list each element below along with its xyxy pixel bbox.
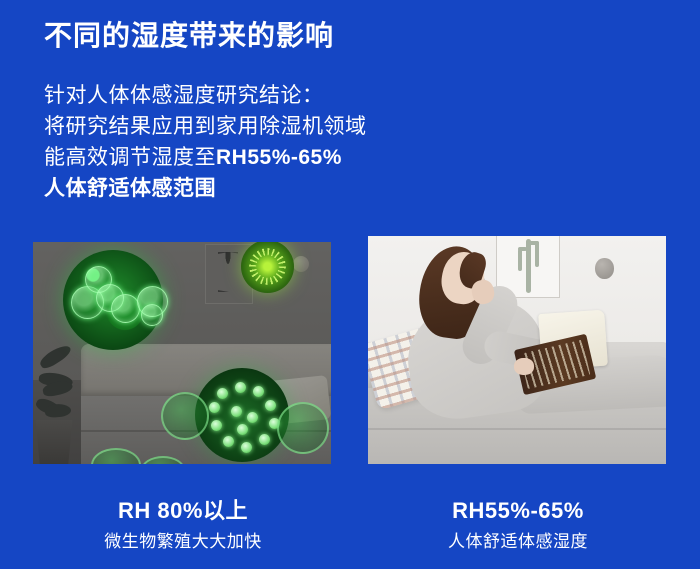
microbe-sphere-large xyxy=(63,250,163,350)
virus-spike xyxy=(209,402,220,413)
caption-subtitle: 微生物繁殖大大加快 xyxy=(33,529,333,555)
body-line-3-prefix: 能高效调节湿度至 xyxy=(44,146,216,169)
body-line-2: 将研究结果应用到家用除湿机领域 xyxy=(44,111,367,142)
plant-pot xyxy=(33,420,75,464)
photo-high-humidity xyxy=(33,242,331,464)
cactus-icon xyxy=(515,239,541,293)
microbe-sphere-partial xyxy=(277,402,329,454)
plant-leaf xyxy=(38,342,74,371)
body-copy: 针对人体体感湿度研究结论： 将研究结果应用到家用除湿机领域 能高效调节湿度至RH… xyxy=(44,80,367,204)
microbe-cell xyxy=(141,304,163,326)
caption-title: RH55%-65% xyxy=(368,497,668,525)
caption-subtitle: 人体舒适体感湿度 xyxy=(368,529,668,555)
caption-high-humidity: RH 80%以上 微生物繁殖大大加快 xyxy=(33,497,333,555)
humidity-range-highlight: RH55%-65% xyxy=(216,146,342,169)
virus-spike xyxy=(237,424,248,435)
dim-room-scene xyxy=(33,242,331,464)
virus-spike xyxy=(223,436,234,447)
body-line-3: 能高效调节湿度至RH55%-65% xyxy=(44,142,367,173)
plant-leaf xyxy=(45,403,72,418)
virus-spike xyxy=(211,420,222,431)
microbe-sphere-partial xyxy=(161,392,209,440)
caption-title: RH 80%以上 xyxy=(33,497,333,525)
virus-spike xyxy=(235,382,246,393)
humidity-infographic-poster: 不同的湿度带来的影响 针对人体体感湿度研究结论： 将研究结果应用到家用除湿机领域… xyxy=(0,0,700,569)
virus-spike xyxy=(247,412,258,423)
microbe-sphere-bottom xyxy=(195,368,289,462)
open-book xyxy=(510,307,614,398)
microbe-sphere-small xyxy=(241,242,294,293)
bright-room-scene xyxy=(368,236,666,464)
microbe-cell xyxy=(111,294,140,323)
woman-hand-on-book xyxy=(514,358,534,375)
body-line-1: 针对人体体感湿度研究结论： xyxy=(44,80,367,111)
virus-spike xyxy=(241,442,252,453)
virus-spike xyxy=(217,388,228,399)
page-title: 不同的湿度带来的影响 xyxy=(44,19,334,53)
photo-comfort-humidity xyxy=(368,236,666,464)
virus-spike xyxy=(231,406,242,417)
caption-comfort-humidity: RH55%-65% 人体舒适体感湿度 xyxy=(368,497,668,555)
virus-spike xyxy=(259,434,270,445)
virus-spike xyxy=(265,400,276,411)
body-line-4: 人体舒适体感范围 xyxy=(44,173,367,204)
bright-sofa-seam xyxy=(368,428,666,430)
virus-spike xyxy=(253,386,264,397)
wall-decor-icon xyxy=(595,258,614,279)
potted-plant xyxy=(33,334,89,464)
wall-knob-icon xyxy=(293,256,309,272)
